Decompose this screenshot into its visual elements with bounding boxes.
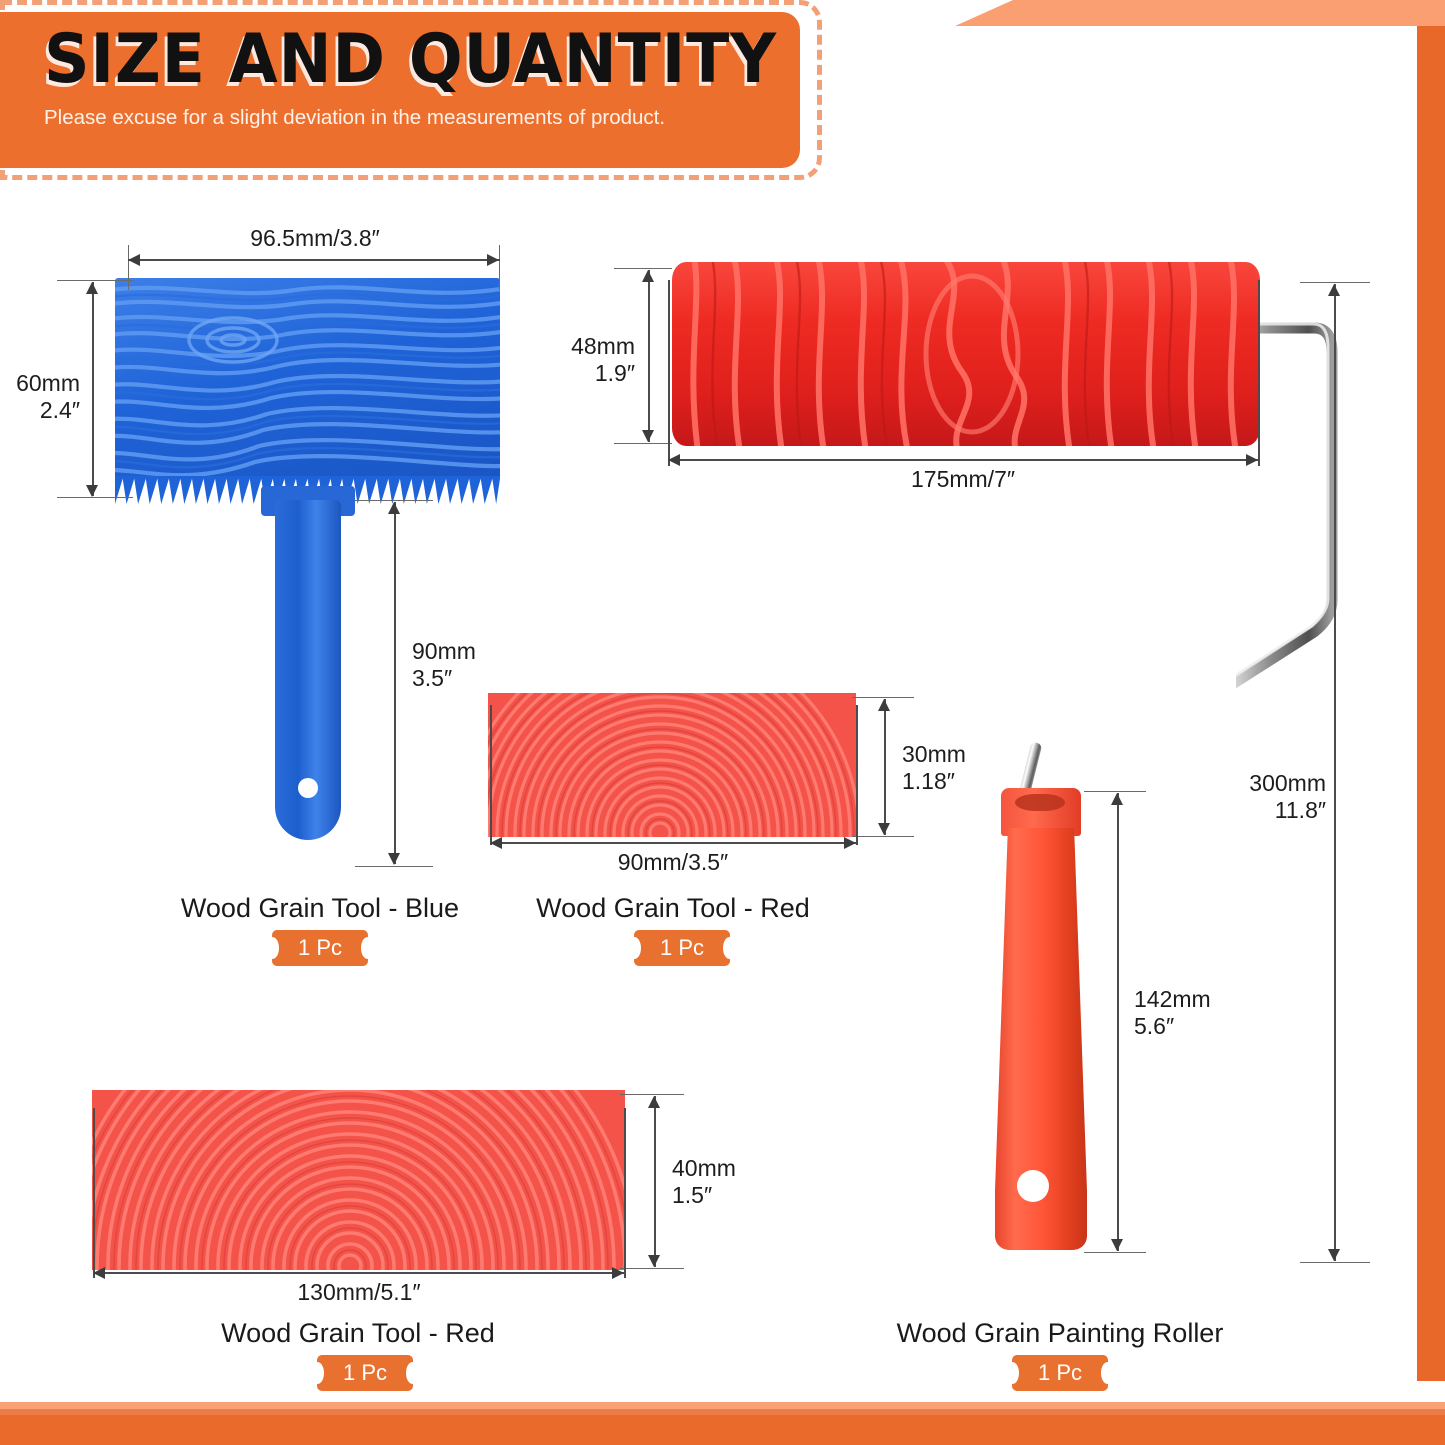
header-fill: SIZE AND QUANTITY Please excuse for a sl… xyxy=(0,12,800,168)
dim-value-inch: 3.5″ xyxy=(412,665,452,691)
dim-label-small-pad-height: 30mm 1.18″ xyxy=(902,741,966,795)
dim-label-blue-head-width: 96.5mm/3.8″ xyxy=(190,225,440,252)
roller-metal-frame xyxy=(1236,300,1396,820)
dim-value-mm: 142mm xyxy=(1134,986,1211,1012)
badge-quantity-red-large: 1 Pc xyxy=(317,1355,413,1391)
dim-label-drum-diameter: 48mm 1.9″ xyxy=(530,333,635,387)
edge-accent-right xyxy=(1417,26,1445,1381)
dim-label-blue-handle-length: 90mm 3.5″ xyxy=(412,638,476,692)
dim-line-overall-height xyxy=(1334,284,1336,1261)
dim-arrow xyxy=(1328,1249,1340,1261)
dim-tick xyxy=(1258,280,1260,466)
badge-quantity-text: 1 Pc xyxy=(272,930,368,966)
page-title: SIZE AND QUANTITY xyxy=(44,18,747,102)
dim-arrow xyxy=(642,430,654,442)
product-image-wood-grain-tool-red-large xyxy=(92,1090,625,1270)
header-banner: SIZE AND QUANTITY Please excuse for a sl… xyxy=(0,0,822,180)
dim-value-mm: 40mm xyxy=(672,1155,736,1181)
dim-value-mm: 30mm xyxy=(902,741,966,767)
roller-drum-body xyxy=(672,262,1260,446)
dim-arrow xyxy=(1328,284,1340,296)
dim-arrow xyxy=(1111,1239,1123,1251)
dim-tick xyxy=(93,1108,95,1278)
dim-value-mm: 300mm xyxy=(1249,770,1326,796)
dim-tick xyxy=(1084,1252,1146,1253)
caption-wood-grain-painting-roller: Wood Grain Painting Roller xyxy=(830,1318,1290,1349)
badge-quantity-red-small: 1 Pc xyxy=(634,930,730,966)
dim-arrow xyxy=(86,282,98,294)
dim-line-small-pad-width xyxy=(490,842,857,844)
dim-tick xyxy=(668,280,670,466)
dim-arrow xyxy=(490,837,502,849)
dim-tick xyxy=(355,866,433,867)
dim-value-inch: 11.8″ xyxy=(1275,797,1326,823)
dim-label-large-pad-width: 130mm/5.1″ xyxy=(234,1279,484,1306)
dim-label-small-pad-width: 90mm/3.5″ xyxy=(548,849,798,876)
dim-value-mm: 48mm xyxy=(571,333,635,359)
dim-arrow xyxy=(668,454,680,466)
bottom-band-dark xyxy=(0,1415,1445,1445)
dim-tick xyxy=(57,497,133,498)
blue-tool-head xyxy=(115,278,500,478)
dim-arrow xyxy=(388,502,400,514)
dim-arrow xyxy=(93,1267,105,1279)
dim-tick xyxy=(490,705,492,845)
dim-line-drum-length xyxy=(668,459,1259,461)
dim-tick xyxy=(852,836,914,837)
dim-line-large-pad-height xyxy=(654,1096,656,1267)
product-image-roller-handle xyxy=(995,788,1087,1250)
badge-quantity-text: 1 Pc xyxy=(317,1355,413,1391)
dim-arrow xyxy=(648,1096,660,1108)
dim-value-inch: 2.4″ xyxy=(40,397,80,423)
dim-tick xyxy=(499,245,500,290)
dim-tick xyxy=(614,443,672,444)
red-pad-small-texture xyxy=(488,693,856,837)
dim-line-drum-diameter xyxy=(648,270,650,442)
blue-wood-grain-texture xyxy=(115,278,500,478)
dim-arrow xyxy=(86,485,98,497)
dim-arrow xyxy=(128,254,140,266)
dim-arrow xyxy=(648,1255,660,1267)
dim-arrow xyxy=(487,254,499,266)
dim-line-blue-handle xyxy=(394,502,396,864)
dim-value-mm: 90mm xyxy=(412,638,476,664)
dim-arrow xyxy=(878,699,890,711)
dim-arrow xyxy=(878,823,890,835)
dim-value-inch: 1.18″ xyxy=(902,768,955,794)
badge-quantity-text: 1 Pc xyxy=(1012,1355,1108,1391)
badge-quantity-roller: 1 Pc xyxy=(1012,1355,1108,1391)
dim-value-inch: 1.9″ xyxy=(595,360,635,386)
product-image-wood-grain-tool-red-small xyxy=(488,693,856,837)
red-pad-large-texture xyxy=(92,1090,625,1270)
dim-tick xyxy=(1300,1262,1370,1263)
blue-tool-handle xyxy=(275,500,341,840)
dim-value-inch: 1.5″ xyxy=(672,1182,712,1208)
dim-arrow xyxy=(612,1267,624,1279)
corner-accent-top-right xyxy=(955,0,1445,26)
product-image-roller-drum xyxy=(672,262,1260,446)
dim-tick xyxy=(624,1108,626,1278)
dim-label-blue-head-height: 60mm 2.4″ xyxy=(0,370,80,424)
dim-arrow xyxy=(844,837,856,849)
dim-label-overall-height: 300mm 11.8″ xyxy=(1196,770,1326,824)
dim-label-roller-handle-length: 142mm 5.6″ xyxy=(1134,986,1211,1040)
dim-label-large-pad-height: 40mm 1.5″ xyxy=(672,1155,736,1209)
dim-arrow xyxy=(1111,793,1123,805)
dim-tick xyxy=(128,245,129,290)
product-image-wood-grain-tool-blue xyxy=(115,278,500,863)
caption-wood-grain-tool-red-large: Wood Grain Tool - Red xyxy=(128,1318,588,1349)
dim-tick xyxy=(856,705,858,845)
dim-arrow xyxy=(388,853,400,865)
dim-line-blue-width xyxy=(128,259,500,261)
badge-quantity-text: 1 Pc xyxy=(634,930,730,966)
dim-label-drum-length: 175mm/7″ xyxy=(838,466,1088,493)
dim-value-mm: 60mm xyxy=(16,370,80,396)
dim-line-small-pad-height xyxy=(884,699,886,835)
dim-line-blue-height xyxy=(92,282,94,496)
dim-tick xyxy=(620,1268,684,1269)
dim-arrow xyxy=(642,270,654,282)
badge-quantity-blue: 1 Pc xyxy=(272,930,368,966)
dim-arrow xyxy=(1246,454,1258,466)
roller-rib-texture xyxy=(672,262,1260,446)
dim-value-inch: 5.6″ xyxy=(1134,1013,1174,1039)
roller-handle-body xyxy=(995,828,1087,1250)
caption-wood-grain-tool-red-small: Wood Grain Tool - Red xyxy=(443,893,903,924)
page-subtitle: Please excuse for a slight deviation in … xyxy=(44,106,800,130)
dim-line-roller-handle xyxy=(1117,793,1119,1251)
dim-line-large-pad-width xyxy=(93,1272,625,1274)
